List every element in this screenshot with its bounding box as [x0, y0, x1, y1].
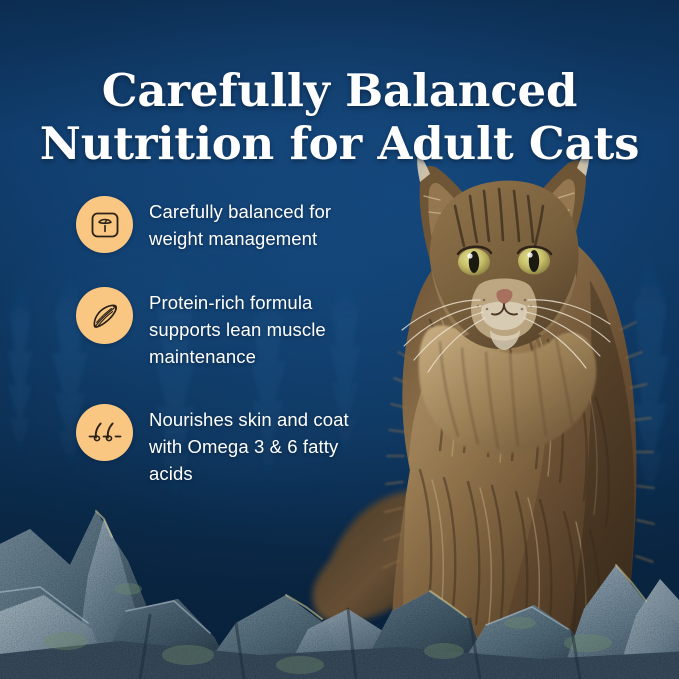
headline-line-2: Nutrition for Adult Cats: [0, 117, 679, 170]
feature-text: Nourishes skin and coat with Omega 3 & 6…: [149, 404, 376, 487]
feature-list: Carefully balanced for weight management…: [76, 196, 376, 487]
feature-item-lean-muscle: Protein-rich formula supports lean muscl…: [76, 287, 376, 370]
product-feature-poster: Carefully Balanced Nutrition for Adult C…: [0, 0, 679, 679]
feature-item-skin-coat: Nourishes skin and coat with Omega 3 & 6…: [76, 404, 376, 487]
hair-follicle-icon: [76, 404, 133, 461]
page-title: Carefully Balanced Nutrition for Adult C…: [0, 64, 679, 170]
bathroom-scale-icon: [76, 196, 133, 253]
feature-text: Protein-rich formula supports lean muscl…: [149, 287, 376, 370]
feature-item-weight-management: Carefully balanced for weight management: [76, 196, 376, 253]
headline-line-1: Carefully Balanced: [0, 64, 679, 117]
muscle-fiber-icon: [76, 287, 133, 344]
feature-text: Carefully balanced for weight management: [149, 196, 376, 252]
